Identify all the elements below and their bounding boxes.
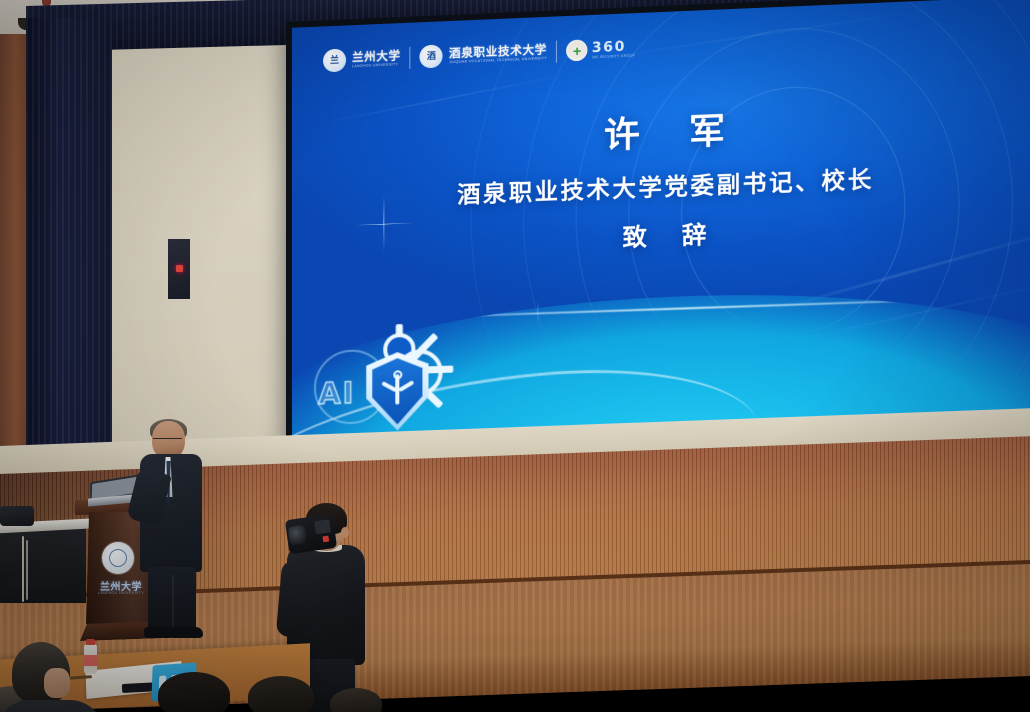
audience-member <box>248 676 314 712</box>
podium-seal-icon <box>102 542 134 574</box>
360-logo-subtext: 360 SECURITY GROUP <box>592 53 635 60</box>
logo-divider <box>410 47 411 69</box>
operator-ear <box>341 527 349 538</box>
camera-record-led-icon <box>322 536 329 543</box>
cable <box>22 536 24 602</box>
led-screen: 兰 兰州大学 LANZHOU UNIVERSITY 酒 酒泉职业技术大学 JIU… <box>286 0 1030 462</box>
logo-360-security: + 360 360 SECURITY GROUP <box>566 38 635 62</box>
audience-member <box>330 688 382 712</box>
cable <box>26 540 28 600</box>
camera-lens-icon <box>288 525 307 546</box>
speaker-legs <box>148 567 196 633</box>
conference-hall-photo: 构建AI安全新生态 培育产教融合新 <box>0 0 1030 712</box>
lanzhou-mark: 兰 <box>330 56 339 65</box>
logo-jiuquan-university: 酒 酒泉职业技术大学 JIUQUAN VOCATIONAL TECHNICAL … <box>420 41 547 69</box>
jiuquan-mark: 酒 <box>427 52 436 61</box>
camera-viewfinder <box>314 519 331 534</box>
ai-shield-emblem: AI <box>314 324 465 437</box>
360-cross-icon: + <box>566 40 587 62</box>
speaker-shoe <box>170 627 203 638</box>
ai-text: AI <box>318 376 355 411</box>
water-bottle <box>84 644 97 674</box>
logo-divider <box>556 41 557 63</box>
stage-curtain-left <box>26 18 112 488</box>
slide-logo-bar: 兰 兰州大学 LANZHOU UNIVERSITY 酒 酒泉职业技术大学 JIU… <box>323 37 635 73</box>
light-streak <box>590 10 921 60</box>
audience-member <box>12 642 70 704</box>
360-cross-glyph: + <box>573 44 581 58</box>
speaker-person <box>138 421 206 639</box>
video-camera-icon <box>285 514 337 554</box>
slide-surface: 兰 兰州大学 LANZHOU UNIVERSITY 酒 酒泉职业技术大学 JIU… <box>292 0 1030 455</box>
audience-member <box>158 672 230 712</box>
lanzhou-university-seal-icon: 兰 <box>323 49 346 73</box>
wall-speaker <box>166 237 192 301</box>
shield-icon <box>366 351 428 431</box>
av-equipment-table <box>0 527 86 603</box>
logo-lanzhou-university: 兰 兰州大学 LANZHOU UNIVERSITY <box>323 47 401 73</box>
lanzhou-logo-en: LANZHOU UNIVERSITY <box>352 62 401 69</box>
slide-text-block: 许 军 酒泉职业技术大学党委副书记、校长 致 辞 <box>292 100 1030 264</box>
light-streak <box>308 72 573 126</box>
speaker-led-icon <box>176 265 183 272</box>
jiuquan-university-seal-icon: 酒 <box>420 45 443 69</box>
av-equipment <box>0 506 34 526</box>
glasses-icon <box>153 438 182 444</box>
